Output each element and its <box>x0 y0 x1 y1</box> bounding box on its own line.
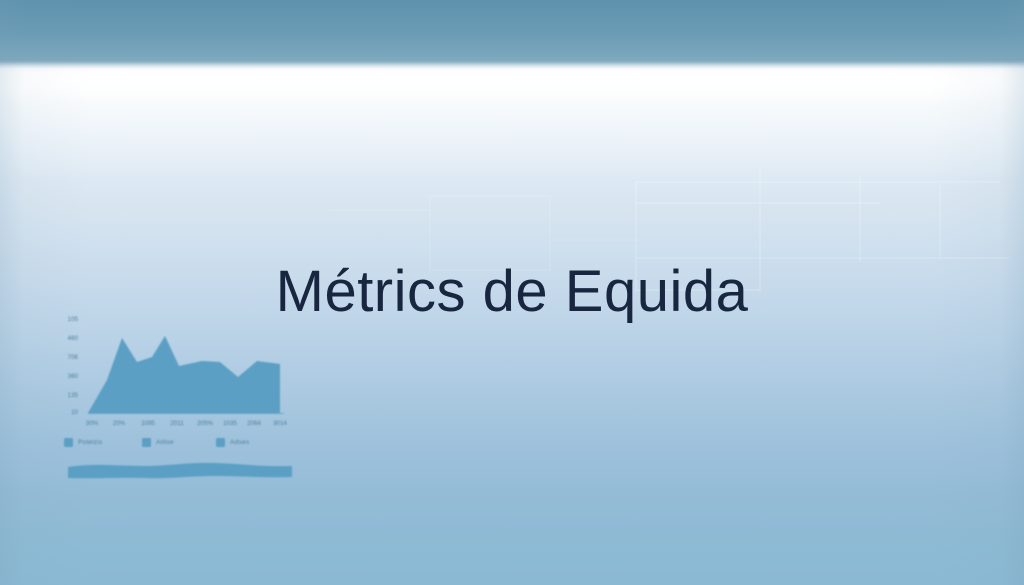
chart-widget: 105 460 706 360 135 10 30% 20% 1095 2011… <box>52 312 296 492</box>
slide-canvas: Métrics de Equida 105 460 706 360 135 10… <box>0 0 1024 585</box>
x-axis-tick-label: 3014 <box>273 420 287 427</box>
legend-item-label: Adses <box>230 439 249 446</box>
y-axis-tick-label: 105 <box>68 316 79 323</box>
x-axis-tick-label: 30% <box>86 420 99 427</box>
area-chart: 105 460 706 360 135 10 30% 20% 1095 2011… <box>52 312 296 436</box>
legend-swatch-icon <box>142 438 151 447</box>
legend-item: Adses <box>216 438 249 447</box>
y-axis-tick-label: 10 <box>71 409 78 416</box>
legend-swatch-icon <box>216 438 225 447</box>
trend-band-shape <box>68 463 292 478</box>
chart-legend: Pstelzis Atiloe Adses <box>64 438 296 454</box>
y-axis-tick-label: 460 <box>68 335 79 342</box>
area-series-path <box>88 336 280 413</box>
y-axis-tick-label: 706 <box>68 354 79 361</box>
legend-item: Pstelzis <box>64 438 102 447</box>
y-axis-tick-label: 135 <box>68 392 79 399</box>
legend-item-label: Pstelzis <box>78 439 102 446</box>
x-axis-tick-label: 1035 <box>223 420 237 427</box>
x-axis-tick-label: 205% <box>197 420 213 427</box>
legend-swatch-icon <box>64 438 73 447</box>
x-axis-tick-label: 2064 <box>247 420 261 427</box>
legend-item: Atiloe <box>142 438 174 447</box>
y-axis-tick-label: 360 <box>68 373 79 380</box>
x-axis-tick-label: 1095 <box>141 420 155 427</box>
x-axis-tick-label: 20% <box>113 420 126 427</box>
legend-item-label: Atiloe <box>156 439 174 446</box>
x-axis-tick-label: 2011 <box>170 420 184 427</box>
trend-summary-band <box>66 460 294 482</box>
